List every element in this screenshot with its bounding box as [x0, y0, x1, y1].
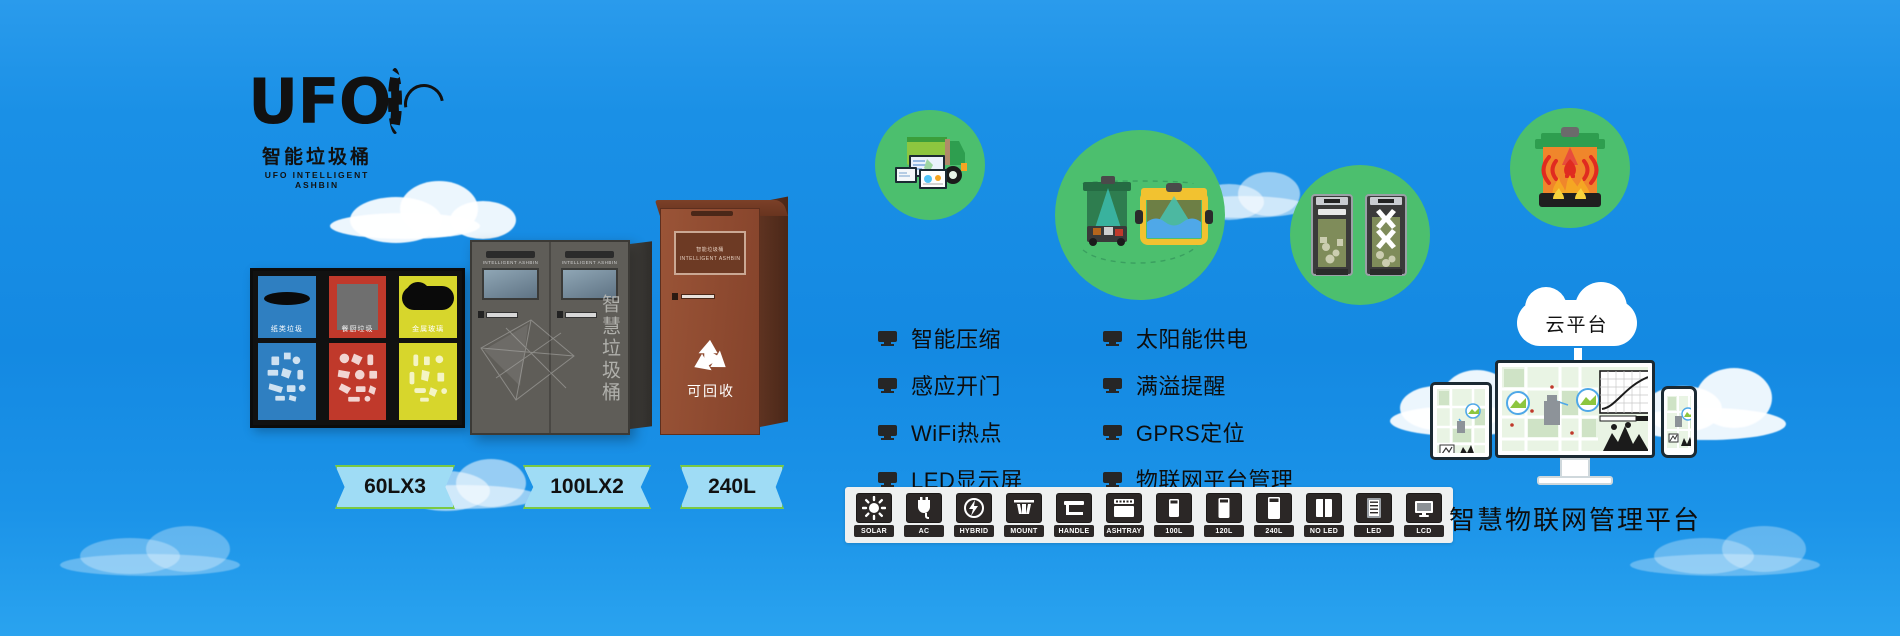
option-chip-hybrid[interactable]: HYBRID — [952, 493, 996, 537]
option-label: SOLAR — [854, 525, 894, 537]
feature-label: 满溢提醒 — [1136, 369, 1226, 401]
platform-caption: 智慧物联网管理平台 — [1430, 500, 1720, 537]
option-chip-solar[interactable]: SOLAR — [852, 493, 896, 537]
wall-mount-icon — [1006, 493, 1042, 523]
display-window: 智能垃圾桶 INTELLIGENT ASHBIN — [674, 231, 746, 275]
monitor-bullet-icon — [1103, 425, 1122, 440]
smartphone — [1661, 386, 1697, 458]
monitor-bullet-icon — [878, 331, 897, 346]
lcd-display — [482, 268, 539, 300]
panel-header-text: INTELLIGENT ASHBIN — [472, 260, 549, 265]
bin-240l-icon — [1256, 493, 1292, 523]
compartment-label: 金属玻璃 — [399, 324, 457, 334]
feature-item: 太阳能供电 — [1103, 322, 1294, 354]
option-label: LED — [1354, 525, 1394, 537]
waste-slot — [681, 294, 715, 299]
bin-side-panel — [760, 197, 788, 427]
led-icon — [1356, 493, 1392, 523]
feature-item: 感应开门 — [878, 369, 1023, 401]
bin-compartment: 纸类垃圾 — [253, 271, 324, 425]
option-label: HYBRID — [954, 525, 994, 537]
tablet — [1430, 382, 1492, 460]
logo-chinese-name: 智能垃圾桶 — [248, 142, 386, 169]
compartment-label: 餐厨垃圾 — [329, 324, 387, 334]
monitor-stand — [1560, 458, 1590, 478]
handle-icon — [1056, 493, 1092, 523]
panel-header-text: INTELLIGENT ASHBIN — [551, 260, 628, 265]
bin-compartment: 餐厨垃圾 — [324, 271, 395, 425]
feature-column-right: 太阳能供电 满溢提醒 GPRS定位 物联网平台管理 — [1103, 322, 1294, 495]
monitor-bullet-icon — [1103, 331, 1122, 346]
cloud-decoration — [60, 520, 280, 580]
ufo-ring-icon — [388, 68, 402, 134]
feature-item: WiFi热点 — [878, 416, 1023, 448]
no-led-icon — [1306, 493, 1342, 523]
capacity-label: 60LX3 — [364, 475, 426, 499]
monitor-base — [1537, 476, 1613, 485]
monitor-bullet-icon — [878, 425, 897, 440]
option-label: HANDLE — [1054, 525, 1094, 537]
bin-compaction-icon — [1302, 189, 1418, 281]
capacity-label: 240L — [708, 475, 756, 499]
feature-label: 智能压缩 — [911, 322, 1001, 354]
fire-alarm-bin-icon — [1523, 123, 1617, 213]
sensor-icon — [557, 311, 563, 318]
feature-label: 感应开门 — [911, 369, 1001, 401]
promo-banner: UFO 智能垃圾桶 UFO INTELLIGENT ASHBIN 纸类垃圾 — [0, 0, 1900, 636]
phone-screen — [1667, 396, 1691, 448]
feature-item: GPRS定位 — [1103, 416, 1294, 448]
bin-front-door: 智能垃圾桶 INTELLIGENT ASHBIN 可回收 — [660, 208, 760, 435]
led-strip — [691, 211, 733, 216]
waste-type-pictograms — [258, 343, 316, 410]
power-plug-icon — [906, 493, 942, 523]
sun-icon — [856, 493, 892, 523]
feature-list: 智能压缩 感应开门 WiFi热点 LED显示屏 太阳能供电 满溢提醒 — [878, 322, 1293, 495]
feature-label: 太阳能供电 — [1136, 322, 1249, 354]
round-slot-icon — [402, 286, 454, 310]
capacity-ribbon: 240L — [680, 465, 784, 509]
garbage-truck-monitoring-icon — [887, 129, 973, 201]
feature-circle-fill-level-sensing — [1055, 130, 1225, 300]
option-label: AC — [904, 525, 944, 537]
feature-item: 智能压缩 — [878, 322, 1023, 354]
monitor-bullet-icon — [1103, 472, 1122, 487]
bin-120l-icon — [1206, 493, 1242, 523]
feature-column-left: 智能压缩 感应开门 WiFi热点 LED显示屏 — [878, 322, 1023, 495]
waste-slot — [565, 312, 597, 318]
waste-type-pictograms — [399, 343, 457, 410]
hybrid-power-icon — [956, 493, 992, 523]
desktop-monitor — [1495, 360, 1655, 458]
bin-100l-icon — [1156, 493, 1192, 523]
feature-circle-compaction — [1290, 165, 1430, 305]
monitor-screen — [1502, 367, 1648, 451]
cloud-badge: 云平台 — [1517, 300, 1637, 346]
option-chip-100l[interactable]: 100L — [1152, 493, 1196, 537]
tablet-screen — [1437, 389, 1485, 453]
brand-logo: UFO 智能垃圾桶 UFO INTELLIGENT ASHBIN — [248, 68, 390, 173]
option-chip-120l[interactable]: 120L — [1202, 493, 1246, 537]
bin-side-panel — [630, 241, 652, 429]
option-label: ASHTRAY — [1104, 525, 1144, 537]
bin-door: INTELLIGENT ASHBIN 智慧垃圾桶 — [551, 242, 628, 433]
option-chip-led[interactable]: LED — [1352, 493, 1396, 537]
header-strip — [486, 251, 535, 258]
option-chip-ashtray[interactable]: ASHTRAY — [1102, 493, 1146, 537]
option-chip-ac[interactable]: AC — [902, 493, 946, 537]
sensor-icon — [672, 293, 678, 300]
option-chip-mount[interactable]: MOUNT — [1002, 493, 1046, 537]
recycle-label: 可回收 — [661, 381, 761, 401]
cloud-platform-illustration: 云平台 — [1425, 300, 1725, 490]
option-icon-strip: SOLAR AC HYBRID MOUNT HANDLE — [845, 487, 1453, 543]
cloud-label: 云平台 — [1545, 310, 1608, 337]
waste-type-pictograms — [329, 343, 387, 410]
bin-compartment: 金属玻璃 — [394, 271, 462, 425]
product-twin-bin: INTELLIGENT ASHBIN INTELLIGENT ASHBIN — [470, 240, 630, 435]
option-label: 120L — [1204, 525, 1244, 537]
option-label: 100L — [1154, 525, 1194, 537]
option-chip-no-led[interactable]: NO LED — [1302, 493, 1346, 537]
logo-wordmark: UFO — [248, 71, 390, 133]
product-triple-bin: 纸类垃圾 — [250, 268, 465, 428]
bin-door: INTELLIGENT ASHBIN — [472, 242, 551, 433]
capacity-label: 100LX2 — [550, 475, 624, 499]
ultrasonic-fill-sensor-icon — [1065, 150, 1215, 280]
feature-item: 满溢提醒 — [1103, 369, 1294, 401]
feature-circle-fleet-monitoring — [875, 110, 985, 220]
capacity-ribbon: 100LX2 — [523, 465, 651, 509]
oval-slot-icon — [264, 292, 310, 305]
option-chip-handle[interactable]: HANDLE — [1052, 493, 1096, 537]
header-strip — [565, 251, 614, 258]
ashtray-icon — [1106, 493, 1142, 523]
capacity-ribbon: 60LX3 — [335, 465, 455, 509]
recycle-icon — [687, 337, 733, 379]
option-label: NO LED — [1304, 525, 1344, 537]
option-label: MOUNT — [1004, 525, 1044, 537]
monitor-bullet-icon — [878, 472, 897, 487]
window-text: 智能垃圾桶 INTELLIGENT ASHBIN — [676, 246, 744, 264]
option-chip-240l[interactable]: 240L — [1252, 493, 1296, 537]
monitor-bullet-icon — [878, 378, 897, 393]
compartment-label: 纸类垃圾 — [258, 324, 316, 334]
option-label: 240L — [1254, 525, 1294, 537]
monitor-bullet-icon — [1103, 378, 1122, 393]
logo-english-name: UFO INTELLIGENT ASHBIN — [248, 170, 386, 190]
product-single-bin: 智能垃圾桶 INTELLIGENT ASHBIN 可回收 — [660, 200, 760, 435]
feature-label: WiFi热点 — [911, 416, 1002, 448]
feature-circle-fire-alarm — [1510, 108, 1630, 228]
bin-vertical-label: 智慧垃圾桶 — [596, 294, 623, 404]
feature-label: GPRS定位 — [1136, 416, 1245, 448]
